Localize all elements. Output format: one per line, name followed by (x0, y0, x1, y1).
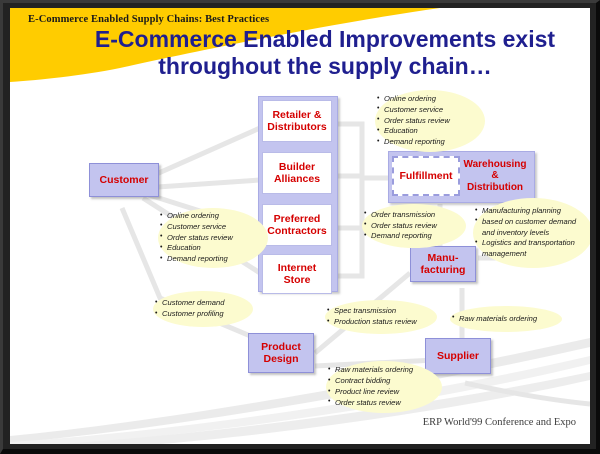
callout-list-item: Spec transmission (334, 306, 417, 317)
node-supplier-label: Supplier (437, 350, 479, 362)
callout-list-item: Raw materials ordering (335, 365, 413, 376)
node-retailer-distributors-label: Retailer & Distributors (267, 109, 327, 133)
callout-list-item: Customer service (167, 222, 233, 233)
slide-canvas: E-Commerce Enabled Supply Chains: Best P… (10, 8, 590, 444)
callout-design-manufacturing: Spec transmissionProduction status revie… (325, 300, 437, 334)
callout-list-item: Customer profiling (162, 309, 224, 320)
slide-window: E-Commerce Enabled Supply Chains: Best P… (0, 0, 600, 454)
node-product-design[interactable]: Product Design (248, 333, 314, 373)
callout-list-item: Customer demand (162, 298, 224, 309)
callout-supplier-manufacturing: Raw materials ordering (450, 306, 562, 332)
node-internet-store-label: Internet Store (278, 262, 317, 286)
callout-list: Online orderingCustomer serviceOrder sta… (158, 211, 233, 265)
callout-list-item: Logistics and transportation (482, 238, 576, 249)
callout-list-item: and inventory levels (482, 228, 576, 239)
node-preferred-contractors-label: Preferred Contractors (267, 213, 327, 237)
node-product-design-label: Product Design (261, 341, 301, 365)
callout-list: Online orderingCustomer serviceOrder sta… (375, 94, 450, 148)
node-customer[interactable]: Customer (89, 163, 159, 197)
callout-list-item: based on customer demand (482, 217, 576, 228)
callout-customer-channel: Online orderingCustomer serviceOrder sta… (158, 208, 268, 268)
node-internet-store[interactable]: Internet Store (262, 254, 332, 294)
callout-list-item: Demand reporting (371, 231, 437, 242)
callout-list-item: Contract bidding (335, 376, 413, 387)
node-preferred-contractors[interactable]: Preferred Contractors (262, 204, 332, 246)
callout-channel-fulfillment: Online orderingCustomer serviceOrder sta… (375, 90, 485, 152)
callout-list-item: Order status review (384, 116, 450, 127)
node-builder-alliances[interactable]: Builder Alliances (262, 152, 332, 194)
node-customer-label: Customer (99, 174, 148, 186)
callout-list-item: Manufacturing planning (482, 206, 576, 217)
node-warehousing-distribution[interactable]: Warehousing & Distribution (460, 154, 530, 198)
callout-list-item: Production status review (334, 317, 417, 328)
callout-list-item: Order status review (335, 398, 413, 409)
callout-list-item: Product line review (335, 387, 413, 398)
callout-list-item: Education (167, 243, 233, 254)
callout-list-item: Raw materials ordering (459, 314, 537, 325)
callout-list: Order transmissionOrder status reviewDem… (362, 210, 437, 242)
callout-list-item: Order transmission (371, 210, 437, 221)
slide-footer: ERP World'99 Conference and Expo (423, 417, 576, 428)
callout-list-item: Demand reporting (384, 137, 450, 148)
callout-list-item: Order status review (371, 221, 437, 232)
callout-list-item: Online ordering (167, 211, 233, 222)
callout-list-item: Order status review (167, 233, 233, 244)
callout-warehousing-manufacturing: Manufacturing planningbased on customer … (473, 198, 590, 268)
callout-list: Spec transmissionProduction status revie… (325, 306, 417, 328)
callout-list-item: Demand reporting (167, 254, 233, 265)
node-fulfillment-label: Fulfillment (399, 170, 452, 182)
callout-design-supplier: Raw materials orderingContract biddingPr… (326, 361, 442, 413)
node-builder-alliances-label: Builder Alliances (274, 161, 320, 185)
callout-list-item: Online ordering (384, 94, 450, 105)
callout-fulfillment-manufacturing: Order transmissionOrder status reviewDem… (362, 204, 466, 248)
callout-list: Customer demandCustomer profiling (153, 298, 224, 320)
callout-list: Raw materials ordering (450, 314, 537, 325)
node-fulfillment[interactable]: Fulfillment (392, 156, 460, 196)
node-manufacturing-label: Manu- facturing (421, 252, 466, 276)
callout-list: Manufacturing planningbased on customer … (473, 206, 576, 260)
callout-list-item: Customer service (384, 105, 450, 116)
callout-customer-design: Customer demandCustomer profiling (153, 291, 253, 327)
node-retailer-distributors[interactable]: Retailer & Distributors (262, 100, 332, 142)
callout-list: Raw materials orderingContract biddingPr… (326, 365, 413, 408)
callout-list-item: Education (384, 126, 450, 137)
node-warehousing-distribution-label: Warehousing & Distribution (464, 159, 527, 193)
node-manufacturing[interactable]: Manu- facturing (410, 246, 476, 282)
callout-list-item: management (482, 249, 576, 260)
